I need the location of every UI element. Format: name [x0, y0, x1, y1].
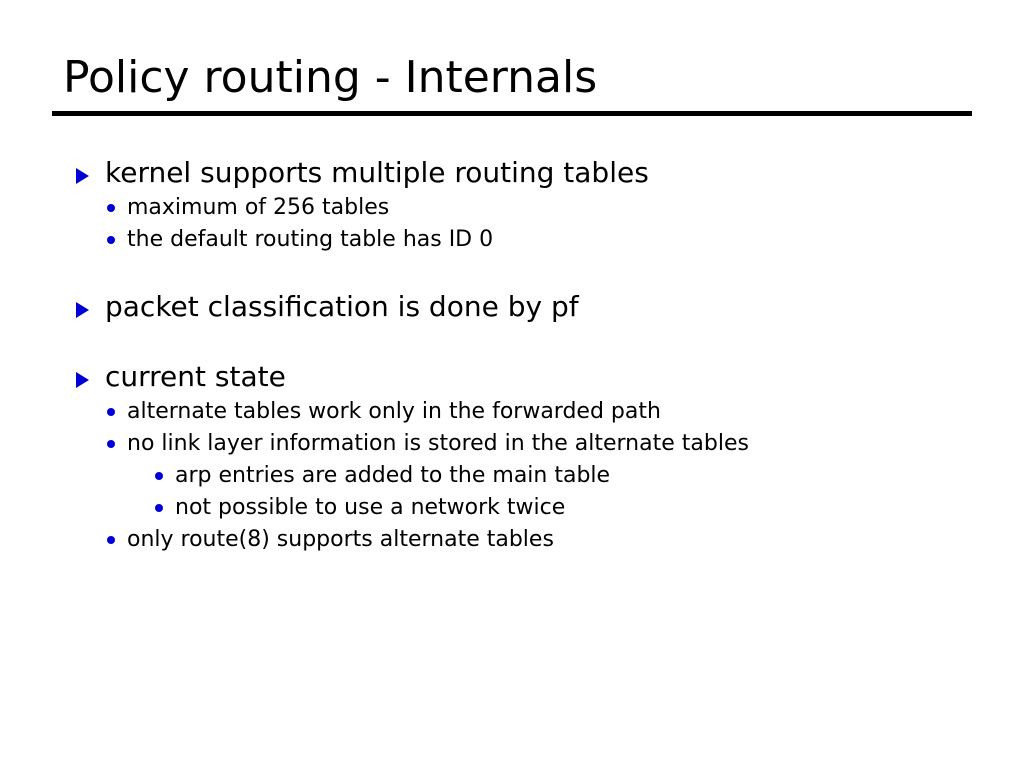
bullet-text: not possible to use a network twice — [175, 494, 565, 522]
bullet-text: alternate tables work only in the forwar… — [127, 398, 661, 426]
page-title: Policy routing - Internals — [63, 50, 972, 106]
bullet-level3: arp entries are added to the main table — [74, 462, 1004, 490]
bullet-text: arp entries are added to the main table — [175, 462, 610, 490]
bullet-text: only route(8) supports alternate tables — [127, 526, 554, 554]
slide-canvas: Policy routing - Internals kernel suppor… — [0, 0, 1024, 768]
bullet-level2: no link layer information is stored in t… — [74, 430, 1004, 458]
bullet-group: current state alternate tables work only… — [74, 360, 1004, 554]
bullet-text: maximum of 256 tables — [127, 194, 389, 222]
bullet-level2: the default routing table has ID 0 — [74, 226, 1004, 254]
bullet-text: current state — [105, 360, 286, 394]
bullet-level1: kernel supports multiple routing tables — [74, 156, 1004, 190]
round-bullet-icon — [107, 449, 127, 450]
bullet-level2: alternate tables work only in the forwar… — [74, 398, 1004, 426]
triangle-right-bullet-icon — [74, 385, 105, 386]
slide-title-block: Policy routing - Internals — [52, 50, 972, 116]
triangle-right-bullet-icon — [74, 315, 105, 316]
bullet-text: kernel supports multiple routing tables — [105, 156, 649, 190]
bullet-level3: not possible to use a network twice — [74, 494, 1004, 522]
bullet-text: no link layer information is stored in t… — [127, 430, 749, 458]
title-divider — [52, 111, 972, 116]
round-bullet-icon — [107, 245, 127, 246]
bullet-level2: only route(8) supports alternate tables — [74, 526, 1004, 554]
triangle-right-bullet-icon — [74, 181, 105, 182]
round-bullet-icon — [155, 481, 175, 482]
bullet-level1: packet classification is done by pf — [74, 290, 1004, 324]
bullet-text: the default routing table has ID 0 — [127, 226, 493, 254]
bullet-level2: maximum of 256 tables — [74, 194, 1004, 222]
round-bullet-icon — [107, 213, 127, 214]
round-bullet-icon — [155, 513, 175, 514]
slide-body: kernel supports multiple routing tables … — [74, 156, 1004, 554]
bullet-group: packet classification is done by pf — [74, 290, 1004, 324]
bullet-level1: current state — [74, 360, 1004, 394]
round-bullet-icon — [107, 545, 127, 546]
bullet-text: packet classification is done by pf — [105, 290, 579, 324]
bullet-group: kernel supports multiple routing tables … — [74, 156, 1004, 254]
round-bullet-icon — [107, 417, 127, 418]
